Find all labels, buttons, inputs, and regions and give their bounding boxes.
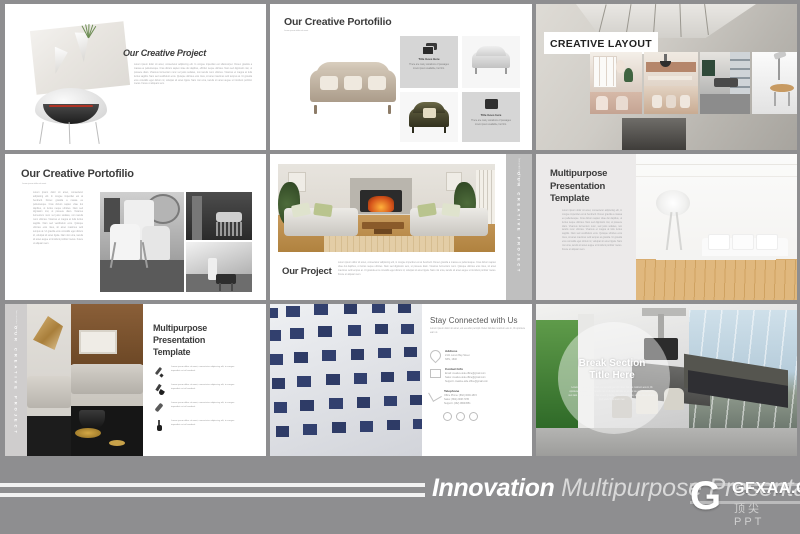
building-photo bbox=[270, 304, 422, 456]
contact-line: Support: (462) 08004551 bbox=[444, 402, 477, 406]
title-line-1: Break Section bbox=[564, 358, 660, 370]
marker-icon bbox=[155, 420, 167, 432]
slide-creative-layout[interactable]: CREATIVE LAYOUT bbox=[536, 4, 797, 150]
title-line-3: Template bbox=[153, 346, 253, 358]
layout-photo-3 bbox=[700, 52, 750, 114]
contact-address[interactable]: Address 2121 Lorem Bay Street NPG, 1640 bbox=[430, 349, 524, 362]
slide-our-creative-portofilio-bw[interactable]: Our Creative Portofilio Lorem ipsum dolo… bbox=[5, 154, 266, 300]
list-item-text: Lorem ipsum dolor sit amet, consectetur … bbox=[171, 420, 237, 432]
decor-floor-strip bbox=[622, 118, 686, 150]
bullets-photo-left bbox=[27, 304, 71, 456]
slide-subtitle: Lorem ipsum dolor sit amet, est ea odio … bbox=[430, 327, 526, 335]
slide-title: Multipurpose Presentation Template bbox=[550, 168, 634, 206]
envelope-icon bbox=[430, 369, 441, 378]
portfolio-photo-white-sofa bbox=[462, 36, 520, 88]
project-sidebar: Innovation Theme OUR CREATIVE PROJECT bbox=[506, 154, 532, 300]
title-line-2: Title Here bbox=[564, 370, 660, 382]
list-item-text: Lorem ipsum dolor sit amet, consectetur … bbox=[171, 402, 237, 414]
title-line-2: Presentation bbox=[153, 334, 253, 346]
slide-subtitle: Lorem ipsum dolor sit amet bbox=[22, 183, 46, 187]
layout-photo-4 bbox=[752, 52, 797, 114]
footer-banner: Innovation Multipurpose Presentation Tem… bbox=[0, 456, 800, 534]
multipurpose-room-image bbox=[636, 154, 797, 300]
footer-rule-bottom bbox=[0, 493, 425, 497]
bullet-list: Lorem ipsum dolor sit amet, consectetur … bbox=[155, 366, 259, 438]
slide-title: Break Section Title Here bbox=[564, 358, 660, 382]
watermark-subtitle: 顶尖PPT bbox=[734, 500, 764, 528]
card-body: There are many variations of passages lo… bbox=[471, 119, 511, 127]
sidebar-vertical-label: OUR CREATIVE PROJECT bbox=[517, 172, 522, 274]
slide-title: CREATIVE LAYOUT bbox=[550, 38, 652, 50]
slide-title: Our Creative Portofilio bbox=[21, 168, 134, 180]
bullets-sidebar: Innovation Theme OUR CREATIVE PROJECT bbox=[5, 304, 27, 456]
contact-line: Support: creative-side.office@gmail.com bbox=[445, 380, 488, 384]
list-item-text: Lorem ipsum dolor sit amet, consectetur … bbox=[171, 384, 237, 396]
decor-bowl-accent bbox=[49, 105, 93, 107]
portfolio-photo-green-armchair bbox=[400, 92, 458, 142]
slide-body: Lorem ipsum dolor sit amet, consectetur … bbox=[134, 64, 252, 87]
screenshot-root: Our Creative Project Lorem ipsum dolor s… bbox=[0, 0, 800, 534]
location-pin-icon bbox=[428, 348, 444, 364]
pen-icon bbox=[155, 366, 167, 378]
linkedin-icon[interactable] bbox=[469, 412, 478, 421]
list-item-text: Lorem ipsum dolor sit amet, consectetur … bbox=[171, 366, 237, 378]
slide-body: Lorem ipsum dolor sit amet, consectetur … bbox=[562, 210, 622, 253]
contact-line: NPG, 1640 bbox=[445, 358, 470, 362]
card-body: There are many variations of passages lo… bbox=[409, 63, 449, 71]
contact-label: Contact Info bbox=[445, 367, 488, 371]
layout-photo-1 bbox=[590, 52, 642, 114]
slide-body: Lorem ipsum dolor sit amet, consectetur … bbox=[338, 262, 496, 278]
slide-multipurpose-bullets[interactable]: Innovation Theme OUR CREATIVE PROJECT Mu bbox=[5, 304, 266, 456]
slide-multipurpose-right[interactable]: Multipurpose Presentation Template Lorem… bbox=[536, 154, 797, 300]
twitter-icon[interactable] bbox=[456, 412, 465, 421]
slide-our-creative-portofilio-color[interactable]: Our Creative Portofilio Lorem ipsum dolo… bbox=[270, 4, 532, 150]
portfolio-image-bottom-right bbox=[186, 242, 252, 292]
title-line-3: Template bbox=[550, 193, 634, 206]
eraser-icon bbox=[155, 402, 167, 414]
watermark-domain: GFXAA.COM bbox=[732, 480, 800, 498]
sidebar-vertical-label: OUR CREATIVE PROJECT bbox=[14, 326, 19, 436]
title-line-1: Multipurpose bbox=[550, 168, 634, 181]
portfolio-card-1[interactable]: Title Goes Here There are many variation… bbox=[400, 36, 458, 88]
slide-title: Our Creative Project bbox=[123, 48, 206, 58]
slide-body: Lorem ipsum dolor sit amet, consectetur … bbox=[33, 192, 83, 246]
footer-rule-top bbox=[0, 483, 425, 487]
footer-brand-bold: Innovation bbox=[432, 474, 554, 502]
card-title: Title Goes here bbox=[462, 113, 520, 117]
slide-title-badge: CREATIVE LAYOUT bbox=[544, 32, 658, 54]
list-item[interactable]: Lorem ipsum dolor sit amet, consectetur … bbox=[155, 402, 259, 414]
slide-break-section[interactable]: Break Section Title Here Lorem ipsum dol… bbox=[536, 304, 797, 456]
slide-subtitle: Lorem ipsum dolor sit amet bbox=[284, 30, 308, 34]
slide-title: Multipurpose Presentation Template bbox=[153, 322, 253, 358]
list-item[interactable]: Lorem ipsum dolor sit amet, consectetur … bbox=[155, 384, 259, 396]
social-links bbox=[443, 412, 524, 421]
layout-photo-2 bbox=[644, 52, 698, 114]
slide-stay-connected[interactable]: Stay Connected with Us Lorem ipsum dolor… bbox=[270, 304, 532, 456]
slide-our-creative-project[interactable]: Our Creative Project Lorem ipsum dolor s… bbox=[5, 4, 266, 150]
card-title: Title Goes Here bbox=[400, 57, 458, 61]
gfxaa-logo-icon: G bbox=[690, 476, 732, 518]
list-item[interactable]: Lorem ipsum dolor sit amet, consectetur … bbox=[155, 366, 259, 378]
decor-plant-icon bbox=[77, 22, 99, 38]
title-line-1: Multipurpose bbox=[153, 322, 253, 334]
slide-title: Stay Connected with Us bbox=[430, 316, 524, 325]
facebook-icon[interactable] bbox=[443, 412, 452, 421]
portfolio-image-top-right bbox=[186, 192, 252, 240]
slide-body: Lorem ipsum dolor sit amet, est ea odio … bbox=[568, 386, 656, 403]
chat-bubble-icon bbox=[485, 99, 498, 109]
contact-info[interactable]: Contact Info Email: creative-side.office… bbox=[430, 367, 524, 384]
phone-icon bbox=[428, 388, 442, 402]
contact-info-panel: Stay Connected with Us Lorem ipsum dolor… bbox=[422, 304, 532, 456]
decor-bowl-legs bbox=[39, 122, 101, 144]
portfolio-image-main bbox=[100, 192, 184, 292]
contact-label: Address bbox=[445, 349, 470, 353]
brush-icon bbox=[155, 384, 167, 396]
title-line-2: Presentation bbox=[550, 181, 634, 194]
slide-title: Our Project bbox=[282, 266, 332, 277]
project-hero-image bbox=[278, 164, 495, 252]
bullets-photo-right bbox=[71, 304, 143, 456]
chat-bubbles-icon bbox=[422, 43, 438, 54]
slide-our-project[interactable]: Our Project Lorem ipsum dolor sit amet, … bbox=[270, 154, 532, 300]
portfolio-card-2[interactable]: Title Goes here There are many variation… bbox=[462, 92, 520, 142]
slide-title: Our Creative Portofilio bbox=[284, 16, 391, 28]
list-item[interactable]: Lorem ipsum dolor sit amet, consectetur … bbox=[155, 420, 259, 432]
decor-classic-sofa bbox=[306, 62, 400, 114]
contact-label: Telephone bbox=[444, 389, 477, 393]
slide-grid: Our Creative Project Lorem ipsum dolor s… bbox=[5, 4, 797, 456]
contact-telephone[interactable]: Telephone Office Phone: (862) 0090-1815 … bbox=[430, 389, 524, 406]
multipurpose-text-panel: Multipurpose Presentation Template Lorem… bbox=[536, 154, 636, 300]
